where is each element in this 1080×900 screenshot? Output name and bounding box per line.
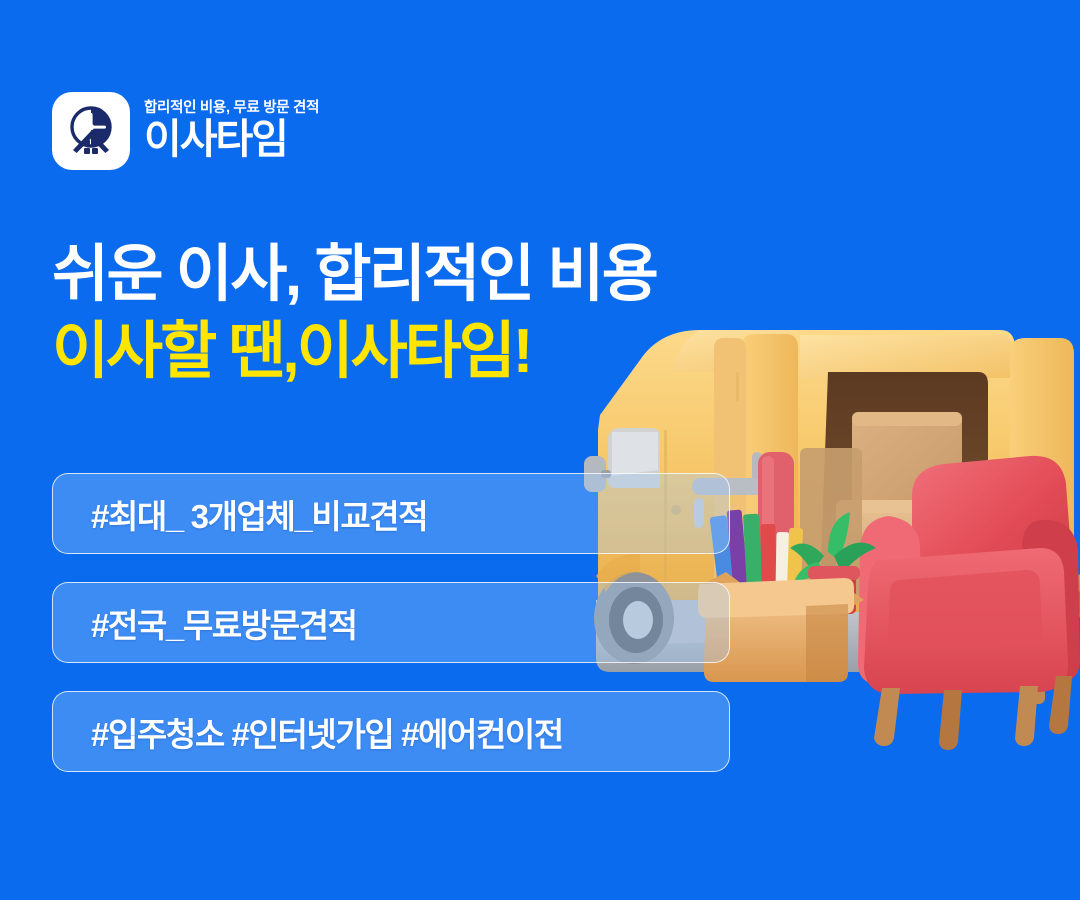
- headline-block: 쉬운 이사, 합리적인 비용 이사할 땐,이사타임!: [52, 238, 656, 388]
- hashtag-pill-1-label: #최대_ 3개업체_비교견적: [91, 490, 427, 538]
- clock-house-icon: [52, 92, 130, 170]
- headline-line-1: 쉬운 이사, 합리적인 비용: [52, 238, 656, 311]
- logo-tagline: 합리적인 비용, 무료 방문 견적: [144, 101, 319, 117]
- van-rear-wheel: [724, 570, 796, 654]
- promo-banner: 합리적인 비용, 무료 방문 견적 이사타임 쉬운 이사, 합리적인 비용 이사…: [0, 0, 1080, 900]
- wooden-table: [988, 574, 1080, 704]
- logo-brand-name: 이사타임: [144, 119, 319, 161]
- potted-plant: [790, 512, 876, 614]
- hashtag-pill-3-label: #입주청소 #인터넷가입 #에어컨이전: [91, 708, 563, 756]
- brand-logo[interactable]: 합리적인 비용, 무료 방문 견적 이사타임: [52, 92, 319, 170]
- headline-line-2: 이사할 땐,이사타임!: [52, 315, 656, 388]
- hashtag-pill-3[interactable]: #입주청소 #인터넷가입 #에어컨이전: [52, 691, 730, 772]
- red-armchair: [858, 456, 1080, 750]
- logo-text-block: 합리적인 비용, 무료 방문 견적 이사타임: [144, 101, 319, 161]
- hashtag-pill-list: #최대_ 3개업체_비교견적 #전국_무료방문견적 #입주청소 #인터넷가입 #…: [52, 473, 730, 772]
- hashtag-pill-2[interactable]: #전국_무료방문견적: [52, 582, 730, 663]
- hashtag-pill-1[interactable]: #최대_ 3개업체_비교견적: [52, 473, 730, 554]
- hashtag-pill-2-label: #전국_무료방문견적: [91, 599, 357, 647]
